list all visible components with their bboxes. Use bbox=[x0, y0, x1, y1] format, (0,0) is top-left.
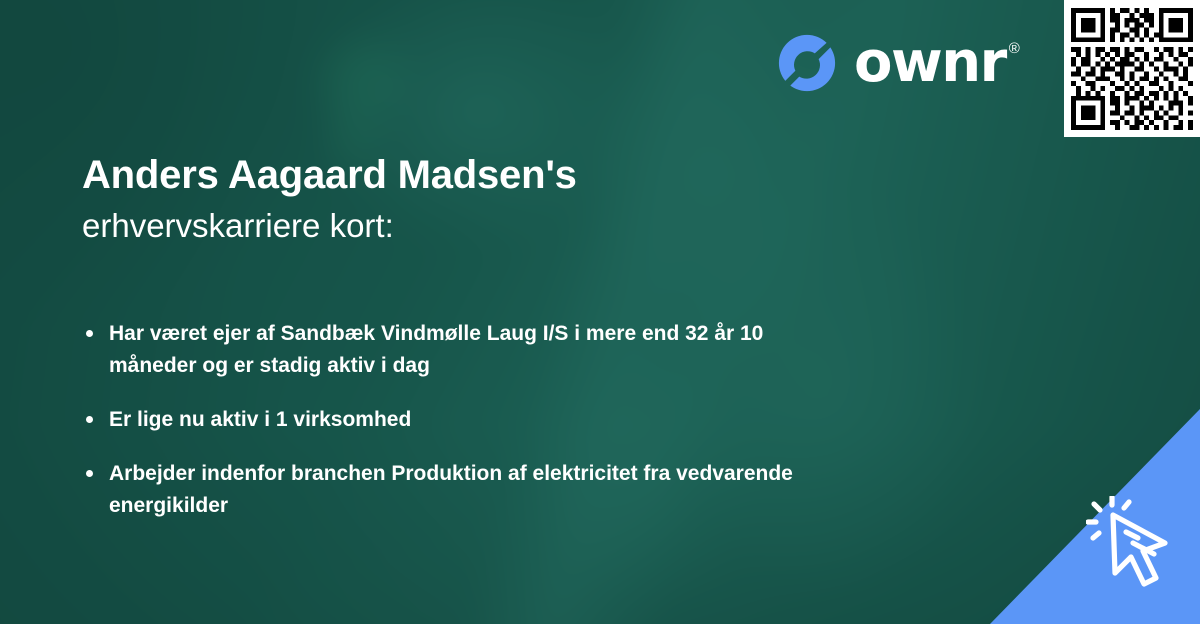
brand-name: ownr bbox=[854, 35, 1006, 91]
click-cursor-icon bbox=[1086, 496, 1194, 600]
bullet-dot-icon bbox=[86, 416, 93, 423]
ownr-circle-swoosh-icon bbox=[776, 32, 838, 94]
page-subtitle: erhvervskarriere kort: bbox=[82, 206, 882, 246]
qr-code bbox=[1071, 8, 1193, 130]
bullet-dot-icon bbox=[86, 330, 93, 337]
summary-list: Har været ejer af Sandbæk Vindmølle Laug… bbox=[82, 318, 882, 522]
list-item-text: Er lige nu aktiv i 1 virksomhed bbox=[109, 408, 411, 431]
card-content: Anders Aagaard Madsen's erhvervskarriere… bbox=[82, 152, 882, 544]
brand-logo[interactable]: ownr ® bbox=[776, 32, 1020, 94]
list-item: Er lige nu aktiv i 1 virksomhed bbox=[82, 404, 849, 436]
qr-code-panel[interactable] bbox=[1064, 0, 1200, 137]
page-title: Anders Aagaard Madsen's bbox=[82, 152, 882, 198]
business-card-banner: ownr ® bbox=[0, 0, 1200, 624]
list-item-text: Har været ejer af Sandbæk Vindmølle Laug… bbox=[109, 322, 763, 377]
registered-trademark-symbol: ® bbox=[1009, 41, 1020, 56]
list-item-text: Arbejder indenfor branchen Produktion af… bbox=[109, 462, 793, 517]
bullet-dot-icon bbox=[86, 470, 93, 477]
list-item: Har været ejer af Sandbæk Vindmølle Laug… bbox=[82, 318, 849, 382]
brand-wordmark: ownr ® bbox=[854, 35, 1020, 91]
list-item: Arbejder indenfor branchen Produktion af… bbox=[82, 458, 849, 522]
